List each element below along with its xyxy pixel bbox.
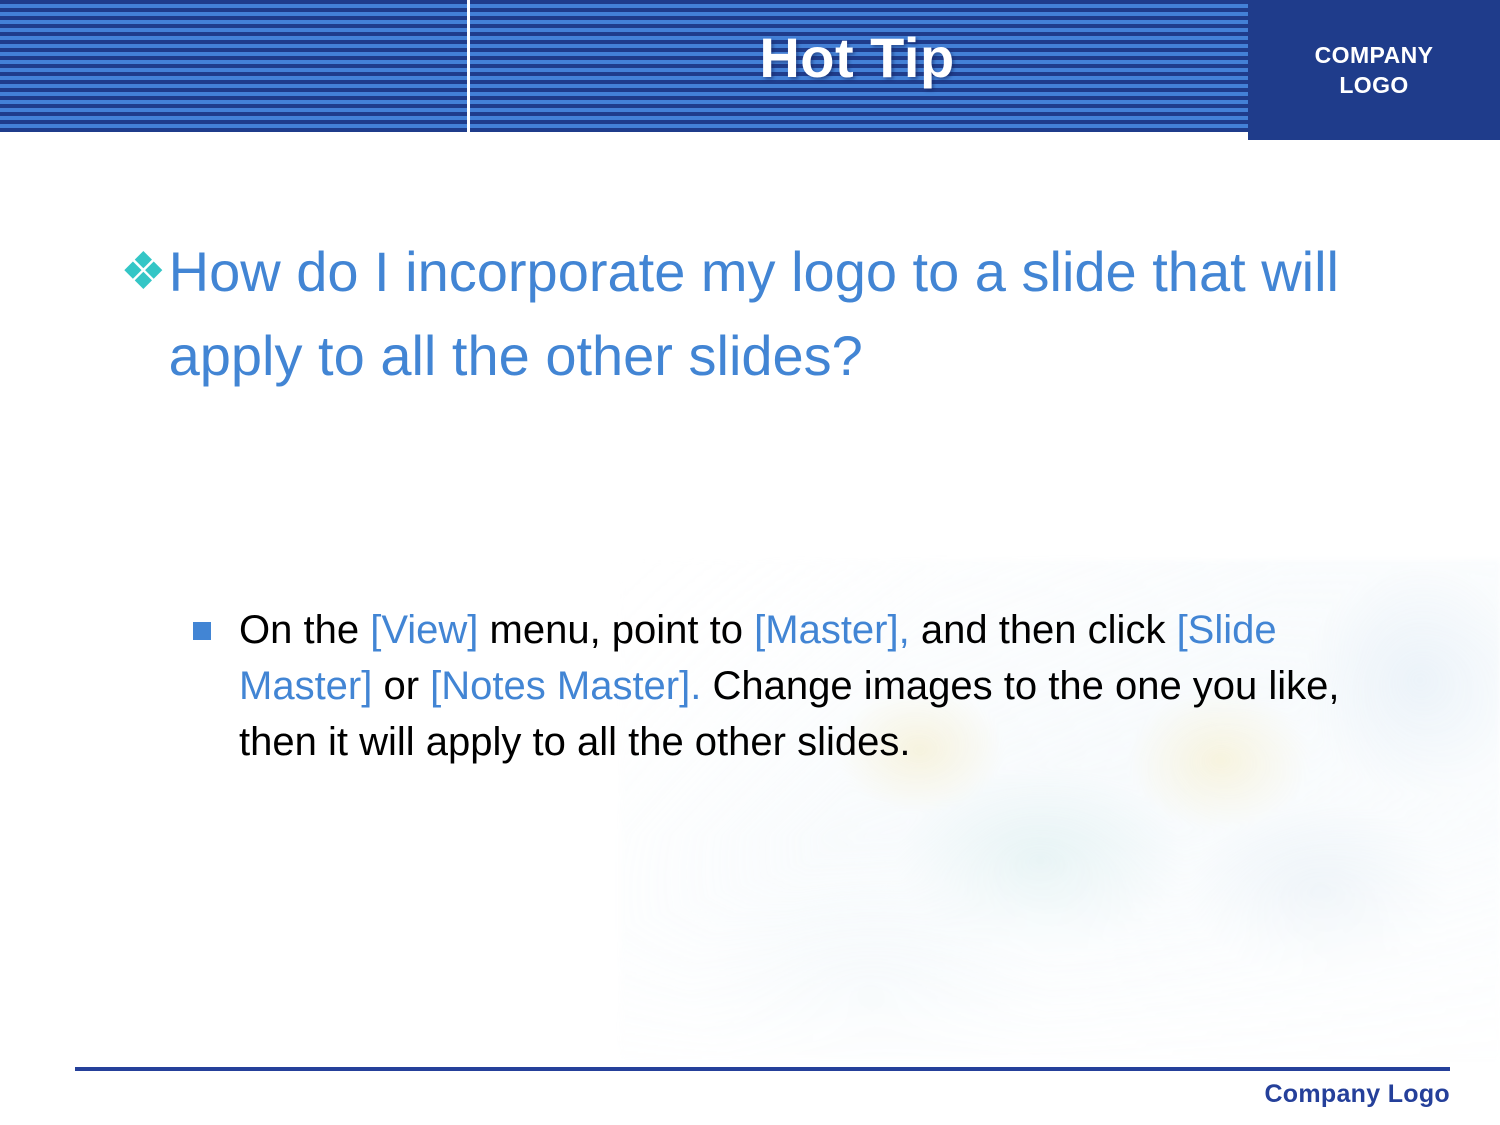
body-text-run-3: [Master],	[754, 608, 910, 652]
heading-text: How do I incorporate my logo to a slide …	[169, 230, 1370, 398]
footer-divider	[75, 1067, 1450, 1071]
square-bullet-icon	[193, 622, 211, 640]
company-logo-line-2: LOGO	[1339, 72, 1408, 98]
body-text-run-1: [View]	[370, 608, 478, 652]
company-logo-text: COMPANY LOGO	[1315, 40, 1434, 100]
presentation-slide: Hot Tip COMPANY LOGO ❖ How do I incorpor…	[0, 0, 1500, 1125]
body-text-run-0: On the	[239, 608, 370, 652]
diamond-cluster-bullet-icon: ❖	[120, 230, 167, 314]
body-text-run-2: menu, point to	[478, 608, 754, 652]
body-text-run-6: or	[372, 664, 430, 708]
heading-bullet-item: ❖ How do I incorporate my logo to a slid…	[120, 230, 1370, 398]
body-bullet-item: On the [View] menu, point to [Master], a…	[193, 602, 1353, 770]
company-logo-placeholder: COMPANY LOGO	[1248, 0, 1500, 140]
page-title: Hot Tip	[467, 24, 1247, 92]
footer-company-logo-label: Company Logo	[1264, 1080, 1450, 1109]
body-text: On the [View] menu, point to [Master], a…	[239, 602, 1353, 770]
body-text-run-4: and then click	[910, 608, 1177, 652]
slide-content: ❖ How do I incorporate my logo to a slid…	[0, 132, 1500, 1037]
body-text-run-7: [Notes Master].	[430, 664, 701, 708]
company-logo-line-1: COMPANY	[1315, 42, 1434, 68]
